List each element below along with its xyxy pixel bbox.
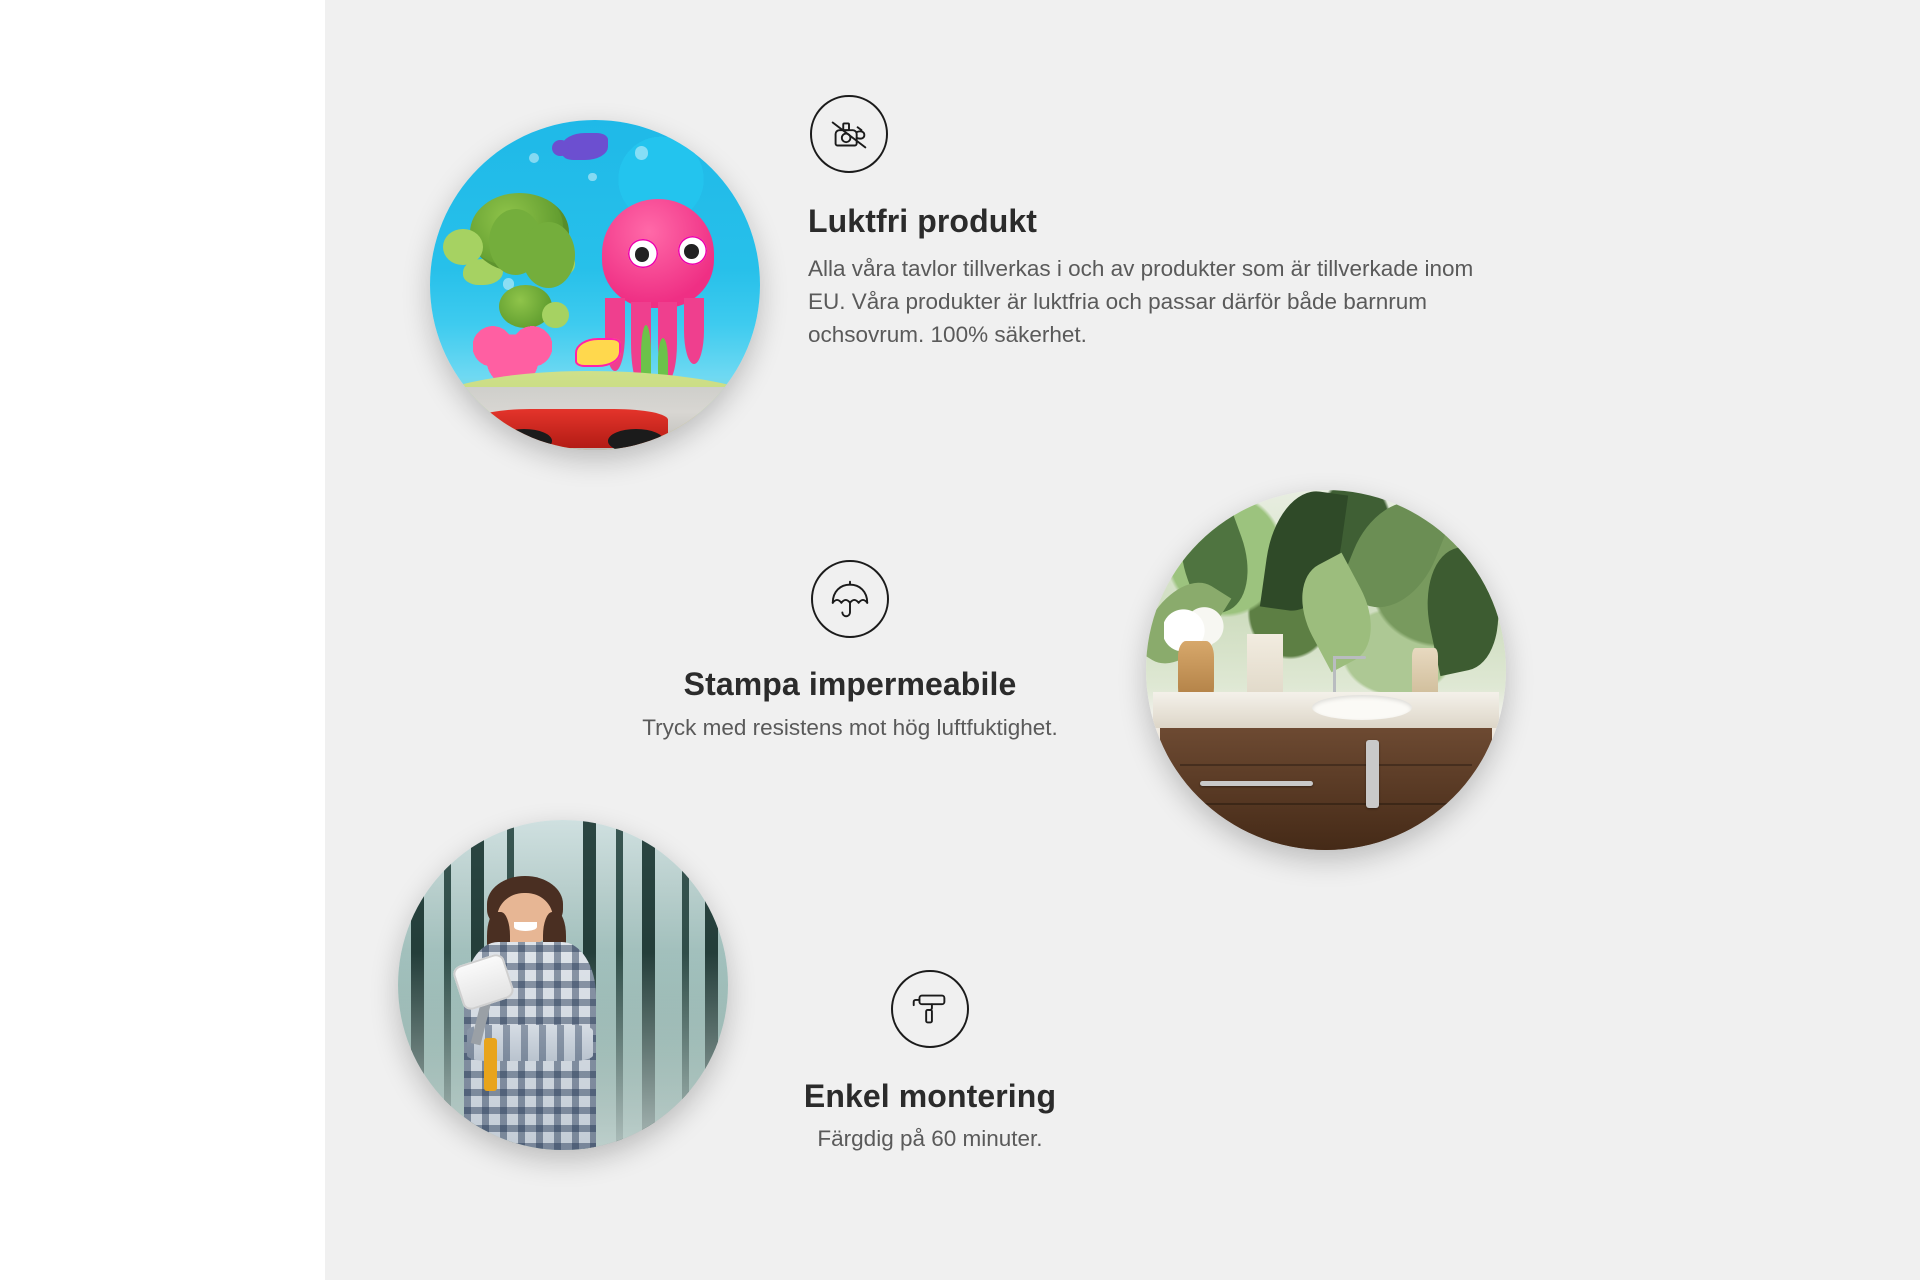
feature-title: Stampa impermeabile [540, 666, 1160, 703]
bathroom-tropical-leaf-wallpaper-photo [1146, 490, 1506, 850]
woman-with-paint-roller-forest-wallpaper-photo [398, 820, 728, 1150]
feature-description: Färgdig på 60 minuter. [700, 1123, 1160, 1156]
feature-block-waterproof: Stampa impermeabile Tryck med resistens … [540, 560, 1160, 745]
umbrella-icon [811, 560, 889, 638]
feature-block-odour: Luktfri produkt Alla våra tavlor tillver… [808, 95, 1508, 352]
feature-block-mounting: Enkel montering Färgdig på 60 minuter. [700, 970, 1160, 1156]
feature-description: Tryck med resistens mot hög luftfuktighe… [540, 712, 1160, 745]
underwater-cartoon-wallpaper-photo [430, 120, 760, 450]
feature-description: Alla våra tavlor tillverkas i och av pro… [808, 253, 1506, 352]
paint-roller-icon [891, 970, 969, 1048]
feature-title: Luktfri produkt [808, 203, 1508, 240]
no-odour-perfume-bottle-icon [810, 95, 888, 173]
banner-root: Luktfri produkt Alla våra tavlor tillver… [0, 0, 1920, 1280]
feature-title: Enkel montering [700, 1078, 1160, 1115]
